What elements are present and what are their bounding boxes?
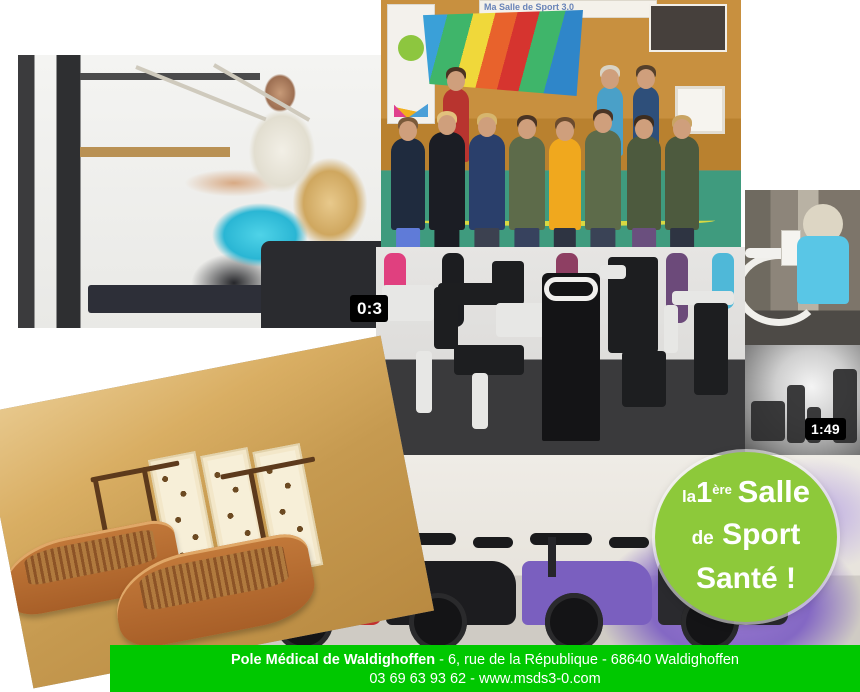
badge-line-1: la1ère Salle [655,474,837,510]
spinning-bike [522,547,652,651]
badge-de: de [692,528,714,549]
group-person [509,136,545,230]
video-duration-badge: 1:49 [805,418,846,440]
footer-clinic-name: Pole Médical de Waldighoffen [231,652,435,668]
badge-number: 1 [696,477,712,509]
badge-line-3: Santé ! [655,562,837,596]
footer-address: - 6, rue de la République - 68640 Waldig… [435,652,739,668]
video-duration-badge: 0:3 [350,295,388,322]
badge-la: la [682,487,696,506]
badge-sport: Sport [722,518,800,551]
group-person [665,136,699,230]
footer-contact-bar: Pole Médical de Waldighoffen - 6, rue de… [110,645,860,692]
footer-address-line: Pole Médical de Waldighoffen - 6, rue de… [110,652,860,668]
equipment-machine [454,345,524,375]
equipment-machine [382,285,434,321]
equipment-machine [472,373,488,429]
photo-machine-right[interactable] [745,190,860,348]
equipment-machine [416,351,432,413]
badge-salle: Salle [738,474,810,509]
badge-ordinal: ère [712,482,732,497]
footer-phone-website: 03 69 63 93 62 - www.msds3-0.com [110,671,860,687]
group-person [627,136,661,230]
photo-collage: Ma Salle de Sport 3.0 [0,0,860,692]
smallvid-shape [751,401,785,441]
gym-shelf-wood [80,147,230,157]
badge-sport-sante: la1ère Salle de Sport Santé ! [655,452,837,622]
badge-line-2: de Sport [655,518,837,552]
equipment-machine [694,303,728,395]
machine-user-shirt [797,236,849,304]
equipment-machine [664,305,678,353]
group-person [585,130,621,230]
group-person [469,134,505,230]
gym-cable-right [213,63,310,121]
equipment-machine [492,261,524,305]
photo-gym-training[interactable] [18,55,382,328]
group-wall-tv [649,4,727,52]
standee-logo-icon [398,35,424,61]
equipment-machine [600,265,626,279]
equipment-tower [542,273,600,441]
equipment-machine [622,351,666,407]
badge-sante: Santé ! [696,562,796,595]
smallvid-shape [787,385,805,443]
group-person [391,138,425,230]
group-person [429,132,465,230]
group-person [549,138,581,230]
standee-confetti-icon [394,91,428,117]
photo-equipment[interactable] [376,247,756,455]
photo-group[interactable]: Ma Salle de Sport 3.0 [381,0,741,248]
